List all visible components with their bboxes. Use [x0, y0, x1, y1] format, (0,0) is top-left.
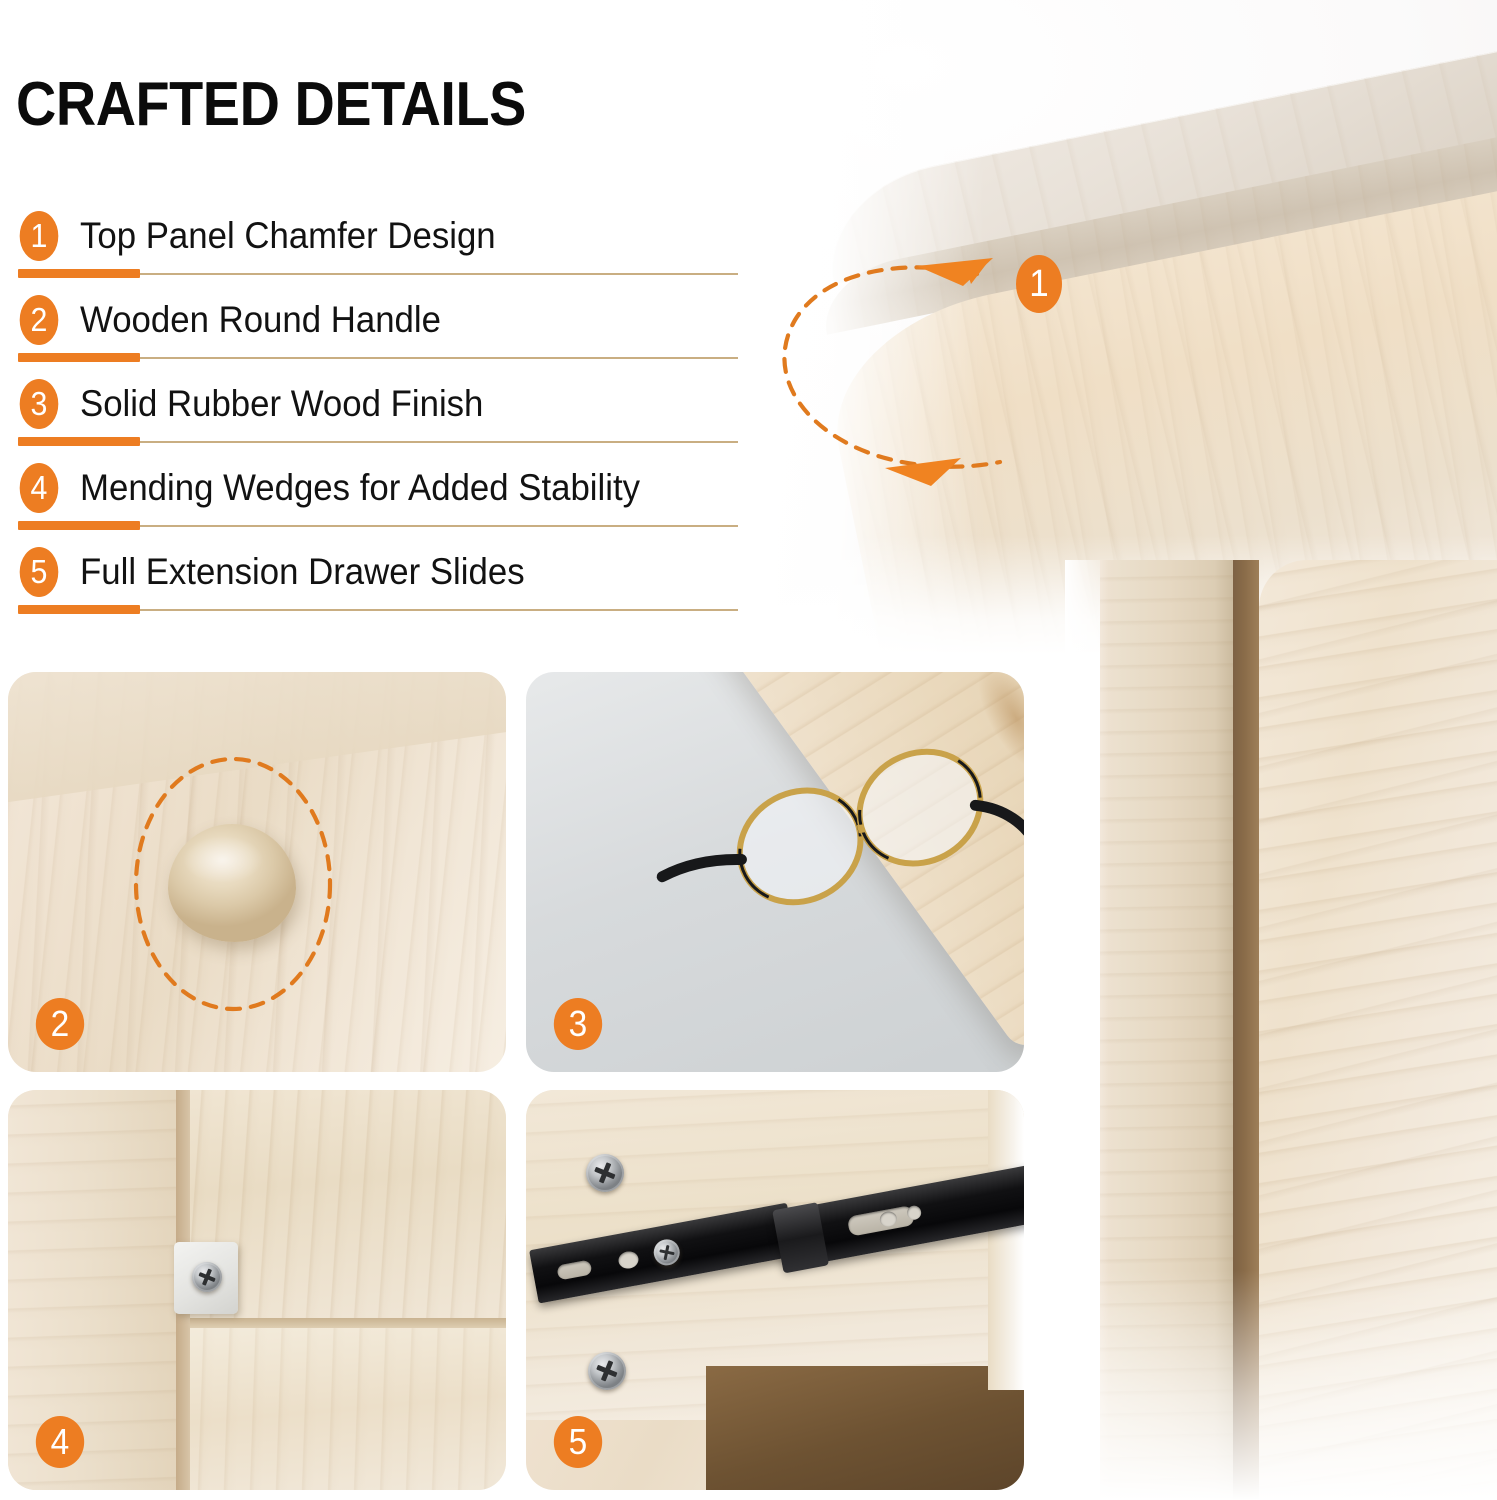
thumbnail-badge-4: 4 [36, 1416, 84, 1468]
feature-row: 3 Solid Rubber Wood Finish [0, 373, 760, 457]
feature-badge-1: 1 [20, 211, 59, 261]
feature-row: 2 Wooden Round Handle [0, 289, 760, 373]
page-title: CRAFTED DETAILS [16, 74, 526, 136]
lower-rail-board [190, 1328, 506, 1490]
wood-grain [190, 1328, 506, 1490]
feature-rule-accent [18, 521, 140, 530]
wood-grain [8, 1090, 176, 1490]
feature-badge-2: 2 [20, 295, 59, 345]
feature-badge-5: 5 [20, 547, 59, 597]
thumbnail-drawer-slide: 5 [526, 1090, 1024, 1490]
hero-badge-1: 1 [1016, 255, 1062, 313]
feature-label-4: Mending Wedges for Added Stability [80, 465, 640, 511]
feature-label-5: Full Extension Drawer Slides [80, 549, 525, 595]
infographic-page: CRAFTED DETAILS 1 Top Panel Chamfer Desi… [0, 0, 1497, 1500]
feature-badge-4: 4 [20, 463, 59, 513]
feature-label-1: Top Panel Chamfer Design [80, 213, 496, 259]
feature-row: 4 Mending Wedges for Added Stability [0, 457, 760, 541]
thumbnail-badge-5: 5 [554, 1416, 602, 1468]
thumbnail-badge-3: 3 [554, 998, 602, 1050]
screw [652, 1237, 682, 1267]
thumbnail-badge-2: 2 [36, 998, 84, 1050]
thumbnail-mending-wedge: 4 [8, 1090, 506, 1490]
feature-badge-3: 3 [20, 379, 59, 429]
feature-list: 1 Top Panel Chamfer Design 2 Wooden Roun… [0, 205, 760, 625]
feature-row: 1 Top Panel Chamfer Design [0, 205, 760, 289]
screw [588, 1352, 626, 1390]
rail-hole [617, 1250, 640, 1270]
thumbnail-rubber-wood-finish: STYLES STYLES FOR EVERY SEASON 3 [526, 672, 1024, 1072]
feature-row: 5 Full Extension Drawer Slides [0, 541, 760, 625]
feature-rule-accent [18, 605, 140, 614]
feature-rule-accent [18, 437, 140, 446]
rail-slot [556, 1260, 592, 1281]
eyeglasses [526, 672, 1024, 1072]
feature-label-2: Wooden Round Handle [80, 297, 441, 343]
table-leg-and-drawer-front [1065, 560, 1497, 1500]
feature-rule-accent [18, 269, 140, 278]
cabinet-shadow-area [706, 1366, 1024, 1490]
thumbnail-wooden-round-handle: 2 [8, 672, 506, 1072]
panel-right-edge [988, 1090, 1024, 1390]
screw [586, 1154, 624, 1192]
screw [192, 1262, 222, 1292]
feature-label-3: Solid Rubber Wood Finish [80, 381, 483, 427]
feature-rule-accent [18, 353, 140, 362]
knob-highlight-annotation [8, 672, 506, 1072]
hero-image-tabletop-corner: 1 [755, 0, 1497, 655]
column-bottom-vignette [1065, 1270, 1497, 1500]
leg-board [8, 1090, 176, 1490]
